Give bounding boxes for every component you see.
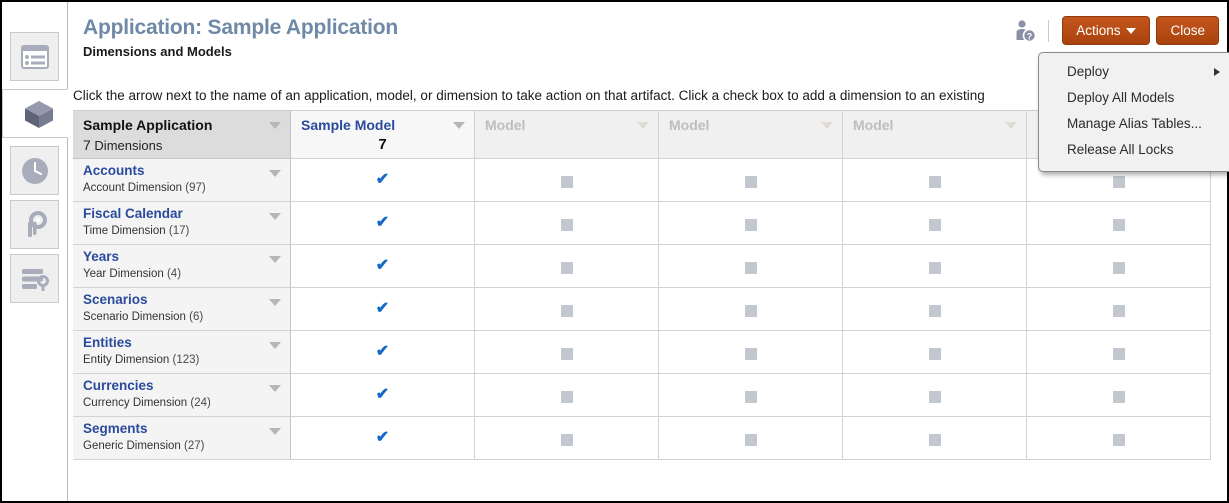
dimension-menu-arrow-icon[interactable] [269,342,281,349]
left-sidebar [2,2,68,501]
menu-item-deploy-all-models[interactable]: Deploy All Models [1039,85,1229,111]
checkmark-icon: ✔ [291,430,474,446]
table-row: Currencies Currency Dimension (24) ✔ [73,374,1229,417]
menu-item-release-all-locks[interactable]: Release All Locks [1039,137,1229,163]
grid-header-model-3[interactable]: Model [659,111,843,159]
dimension-menu-arrow-icon[interactable] [269,170,281,177]
model-checkbox-cell[interactable] [475,202,659,245]
checkbox-disabled-icon[interactable] [929,391,941,403]
checkmark-icon: ✔ [291,215,474,231]
checkbox-disabled-icon[interactable] [1113,219,1125,231]
checkbox-disabled-icon[interactable] [1113,434,1125,446]
checkbox-disabled-icon[interactable] [745,348,757,360]
dimension-member-count: (4) [167,268,181,280]
model-checkbox-cell[interactable] [1027,288,1211,331]
sidebar-item-security[interactable] [10,200,59,249]
model-checkbox-cell[interactable]: ✔ [291,374,475,417]
model-dimension-count: 7 [291,136,474,153]
model-checkbox-cell[interactable] [475,417,659,460]
dimension-type: Currency Dimension (24) [83,397,211,409]
checkbox-disabled-icon[interactable] [929,262,941,274]
database-key-icon [20,266,50,292]
dimension-cell[interactable]: Currencies Currency Dimension (24) [73,374,291,417]
checkmark-icon: ✔ [291,387,474,403]
checkbox-disabled-icon[interactable] [561,305,573,317]
dimension-name: Accounts [83,163,145,178]
model-checkbox-cell[interactable] [475,159,659,202]
sidebar-item-list[interactable] [10,32,59,81]
model-checkbox-cell[interactable] [659,417,843,460]
dimension-type: Entity Dimension (123) [83,354,199,366]
model-checkbox-cell[interactable] [475,331,659,374]
model-name: Model [669,117,709,133]
dimension-type-label: Account Dimension [83,182,182,194]
checkbox-disabled-icon[interactable] [745,391,757,403]
model-checkbox-cell[interactable] [843,159,1027,202]
dimension-menu-arrow-icon[interactable] [269,299,281,306]
checkbox-disabled-icon[interactable] [745,176,757,188]
checkbox-disabled-icon[interactable] [929,434,941,446]
dimension-cell[interactable]: Segments Generic Dimension (27) [73,417,291,460]
checkbox-disabled-icon[interactable] [561,176,573,188]
actions-button-label: Actions [1076,23,1120,38]
model-checkbox-cell[interactable]: ✔ [291,417,475,460]
model-checkbox-cell[interactable] [1027,417,1211,460]
checkbox-disabled-icon[interactable] [561,219,573,231]
checkbox-disabled-icon[interactable] [1113,262,1125,274]
dimension-name: Scenarios [83,292,148,307]
checkmark-icon: ✔ [291,172,474,188]
dimension-menu-arrow-icon[interactable] [269,385,281,392]
model-menu-arrow-icon[interactable] [637,122,649,129]
model-name: Model [853,117,893,133]
dimension-type: Time Dimension (17) [83,225,189,237]
key-icon [20,210,50,240]
clock-icon [20,156,50,186]
checkmark-icon: ✔ [291,344,474,360]
menu-item-manage-alias-tables[interactable]: Manage Alias Tables... [1039,111,1229,137]
sidebar-item-jobs[interactable] [10,146,59,195]
grid-header-model-2[interactable]: Model [475,111,659,159]
dimension-name: Years [83,249,119,264]
checkbox-disabled-icon[interactable] [929,176,941,188]
model-checkbox-cell[interactable] [1027,245,1211,288]
grid-header-model-4[interactable]: Model [843,111,1027,159]
model-checkbox-cell[interactable]: ✔ [291,331,475,374]
model-checkbox-cell[interactable] [843,374,1027,417]
checkbox-disabled-icon[interactable] [745,305,757,317]
model-menu-arrow-icon[interactable] [821,122,833,129]
checkbox-disabled-icon[interactable] [1113,176,1125,188]
table-row: Fiscal Calendar Time Dimension (17) ✔ [73,202,1229,245]
dimension-type-label: Scenario Dimension [83,311,186,323]
actions-dropdown-menu: Deploy Deploy All Models Manage Alias Ta… [1038,52,1229,172]
dimension-member-count: (24) [190,397,210,409]
dimension-type-label: Year Dimension [83,268,164,280]
checkbox-disabled-icon[interactable] [929,348,941,360]
chevron-right-icon [1214,68,1220,76]
sidebar-item-dimensions[interactable] [2,89,68,138]
dimension-member-count: (27) [184,440,204,452]
table-row: Entities Entity Dimension (123) ✔ [73,331,1229,374]
model-checkbox-cell[interactable] [475,374,659,417]
sidebar-item-data-access[interactable] [10,254,59,303]
main-content: Application: Sample Application Dimensio… [69,2,1227,501]
dimension-type: Scenario Dimension (6) [83,311,203,323]
model-checkbox-cell[interactable]: ✔ [291,202,475,245]
dimension-name: Segments [83,421,148,436]
model-checkbox-cell[interactable] [843,288,1027,331]
table-row: Years Year Dimension (4) ✔ [73,245,1229,288]
table-row: Scenarios Scenario Dimension (6) ✔ [73,288,1229,331]
svg-text:?: ? [1027,31,1033,41]
instruction-text: Click the arrow next to the name of an a… [73,88,1133,103]
checkbox-disabled-icon[interactable] [1113,305,1125,317]
application-menu-arrow-icon[interactable] [269,122,281,129]
menu-item-label: Release All Locks [1067,142,1174,157]
application-dimension-count: 7 Dimensions [83,137,162,153]
dimension-member-count: (6) [189,311,203,323]
menu-item-deploy[interactable]: Deploy [1039,59,1229,85]
menu-item-label: Manage Alias Tables... [1067,116,1202,131]
dimension-type: Year Dimension (4) [83,268,181,280]
checkbox-disabled-icon[interactable] [1113,348,1125,360]
model-checkbox-cell[interactable] [843,417,1027,460]
menu-item-label: Deploy All Models [1067,90,1174,105]
chevron-down-icon [1126,28,1136,34]
model-checkbox-cell[interactable] [659,374,843,417]
model-checkbox-cell[interactable]: ✔ [291,159,475,202]
cube-icon [23,98,55,130]
model-checkbox-cell[interactable] [843,202,1027,245]
user-help-icon[interactable]: ? [1014,18,1038,44]
dimension-type-label: Time Dimension [83,225,166,237]
dimension-cell[interactable]: Scenarios Scenario Dimension (6) [73,288,291,331]
model-checkbox-cell[interactable] [475,245,659,288]
model-checkbox-cell[interactable] [659,245,843,288]
dimension-name: Entities [83,335,132,350]
dimension-type-label: Currency Dimension [83,397,187,409]
close-button[interactable]: Close [1156,16,1219,45]
dimension-type-label: Generic Dimension [83,440,181,452]
model-checkbox-cell[interactable] [659,202,843,245]
page-title: Application: Sample Application [83,16,398,40]
dimension-cell[interactable]: Accounts Account Dimension (97) [73,159,291,202]
dimension-type-label: Entity Dimension [83,354,169,366]
checkbox-disabled-icon[interactable] [745,434,757,446]
model-checkbox-cell[interactable] [659,288,843,331]
checkbox-disabled-icon[interactable] [745,219,757,231]
application-window: Application: Sample Application Dimensio… [0,0,1229,503]
model-checkbox-cell[interactable] [475,288,659,331]
dimension-cell[interactable]: Years Year Dimension (4) [73,245,291,288]
dimension-cell[interactable]: Entities Entity Dimension (123) [73,331,291,374]
table-row: Segments Generic Dimension (27) ✔ [73,417,1229,460]
menu-item-label: Deploy [1067,64,1109,79]
header-toolbar: ? Actions Close [1014,16,1219,45]
checkbox-disabled-icon[interactable] [561,348,573,360]
dimension-menu-arrow-icon[interactable] [269,428,281,435]
checkbox-disabled-icon[interactable] [929,305,941,317]
actions-button[interactable]: Actions [1062,16,1150,45]
model-checkbox-cell[interactable] [843,245,1027,288]
page-subtitle: Dimensions and Models [83,44,232,59]
checkmark-icon: ✔ [291,258,474,274]
dimension-name: Fiscal Calendar [83,206,183,221]
model-checkbox-cell[interactable] [1027,202,1211,245]
checkbox-disabled-icon[interactable] [929,219,941,231]
model-checkbox-cell[interactable] [659,159,843,202]
model-checkbox-cell[interactable] [659,331,843,374]
dimension-menu-arrow-icon[interactable] [269,256,281,263]
dimension-type: Generic Dimension (27) [83,440,204,452]
model-menu-arrow-icon[interactable] [453,122,465,129]
checkmark-icon: ✔ [291,301,474,317]
dimension-type: Account Dimension (97) [83,182,206,194]
checkbox-disabled-icon[interactable] [1113,391,1125,403]
model-checkbox-cell[interactable] [843,331,1027,374]
toolbar-divider [1048,20,1049,42]
application-name: Sample Application [83,117,212,133]
model-menu-arrow-icon[interactable] [1005,122,1017,129]
dimension-cell[interactable]: Fiscal Calendar Time Dimension (17) [73,202,291,245]
grid-header-model-1[interactable]: Sample Model 7 [291,111,475,159]
checkbox-disabled-icon[interactable] [561,262,573,274]
application-dimension-label: Dimensions [94,138,162,153]
model-checkbox-cell[interactable]: ✔ [291,245,475,288]
model-checkbox-cell[interactable]: ✔ [291,288,475,331]
model-name: Model [485,117,525,133]
dimension-menu-arrow-icon[interactable] [269,213,281,220]
checkbox-disabled-icon[interactable] [561,391,573,403]
dimension-name: Currencies [83,378,154,393]
dimension-member-count: (123) [173,354,200,366]
list-icon [21,45,49,69]
model-checkbox-cell[interactable] [1027,374,1211,417]
checkbox-disabled-icon[interactable] [561,434,573,446]
grid-header-application[interactable]: Sample Application 7 Dimensions [73,111,291,159]
model-checkbox-cell[interactable] [1027,331,1211,374]
dimension-member-count: (17) [169,225,189,237]
dimension-member-count: (97) [185,182,205,194]
model-name: Sample Model [301,117,395,133]
checkbox-disabled-icon[interactable] [745,262,757,274]
application-dimension-number: 7 [83,137,91,153]
